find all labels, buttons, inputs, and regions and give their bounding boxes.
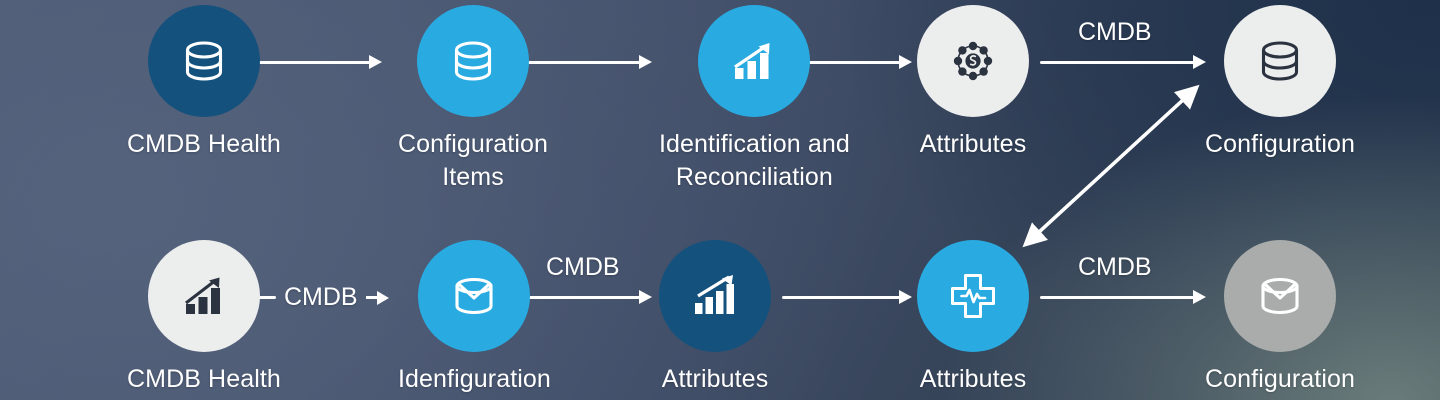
node-cmdb-health-bottom[interactable]: CMDB Health — [127, 240, 281, 396]
database-icon — [178, 35, 230, 87]
connector-top-4-label: CMDB — [1078, 18, 1152, 47]
diagram-canvas: CMDB CMDB Health Configuration Items — [0, 0, 1440, 400]
cylinder-envelope-icon — [1253, 269, 1307, 323]
connector-bottom-4-label: CMDB — [1078, 253, 1152, 282]
node-identification-reconciliation[interactable]: Identification and Reconciliation — [659, 5, 850, 193]
node-circle — [148, 240, 260, 352]
node-label: Attributes — [920, 363, 1027, 396]
node-circle — [1224, 5, 1336, 117]
connector-line — [1040, 296, 1194, 299]
node-circle — [148, 5, 260, 117]
connector-bottom-1-label: CMDB — [284, 283, 358, 312]
node-label: Configuration Items — [398, 128, 548, 193]
bar-chart-up-icon — [728, 35, 780, 87]
node-idenfiguration[interactable]: Idenfiguration — [398, 240, 551, 396]
cross-link-double-arrow-icon — [1000, 72, 1220, 262]
node-circle — [917, 240, 1029, 352]
arrow-head-icon — [899, 55, 912, 69]
node-attributes-bottom-1[interactable]: Attributes — [659, 240, 771, 396]
node-label: Attributes — [662, 363, 769, 396]
connector-bottom-4 — [1040, 277, 1206, 317]
database-icon — [447, 35, 499, 87]
node-label: Configuration — [1205, 128, 1355, 161]
node-label: CMDB Health — [127, 128, 281, 161]
node-cmdb-health-top[interactable]: CMDB Health — [127, 5, 281, 161]
node-label: Configuration — [1205, 363, 1355, 396]
node-circle — [698, 5, 810, 117]
database-icon — [1254, 35, 1306, 87]
connector-bottom-2-label: CMDB — [546, 253, 620, 282]
node-configuration-top[interactable]: Configuration — [1205, 5, 1355, 161]
node-label: Idenfiguration — [398, 363, 551, 396]
arrow-head-icon — [639, 55, 652, 69]
node-label: Identification and Reconciliation — [659, 128, 850, 193]
node-circle — [659, 240, 771, 352]
bar-chart-up-icon — [688, 269, 742, 323]
connector-bottom-3 — [782, 277, 912, 317]
node-attributes-bottom-2[interactable]: Attributes — [917, 240, 1029, 396]
node-circle — [1224, 240, 1336, 352]
network-hub-icon — [945, 33, 1001, 89]
node-configuration-items[interactable]: Configuration Items — [398, 5, 548, 193]
node-label: CMDB Health — [127, 363, 281, 396]
cylinder-envelope-icon — [447, 269, 501, 323]
arrow-head-icon — [639, 290, 652, 304]
arrow-head-icon — [366, 291, 389, 305]
arrow-head-icon — [369, 55, 382, 69]
connector-line — [782, 296, 900, 299]
arrow-head-icon — [899, 290, 912, 304]
node-circle — [417, 5, 529, 117]
node-circle — [418, 240, 530, 352]
node-configuration-bottom[interactable]: Configuration — [1205, 240, 1355, 396]
bar-chart-up-icon — [178, 270, 230, 322]
connector-line — [1040, 61, 1194, 64]
health-cross-icon — [945, 268, 1001, 324]
